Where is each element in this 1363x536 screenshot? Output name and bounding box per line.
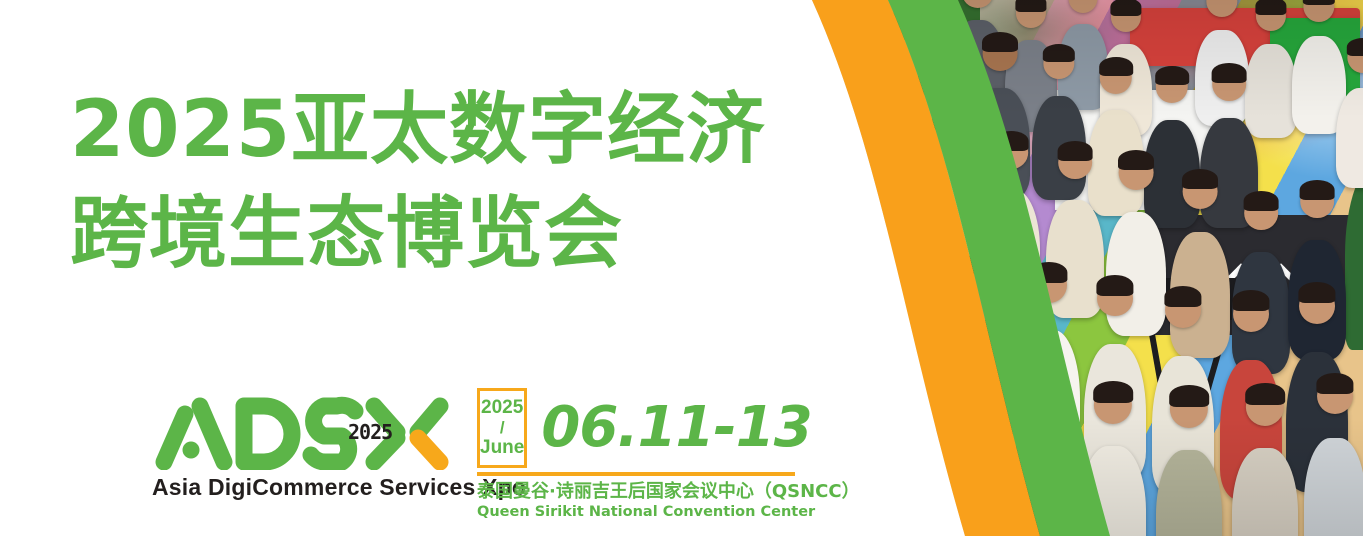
logo-letter-d	[244, 406, 292, 462]
exhibition-photo	[800, 0, 1363, 536]
date-year: 2025	[481, 398, 523, 418]
logo-letter-a-right-stroke	[200, 406, 224, 462]
title-line-1: 2025亚太数字经济	[70, 78, 830, 182]
date-row: 2025 / June 06.11-13	[477, 386, 807, 470]
adsx-wordmark: 2025	[152, 392, 452, 470]
title-line-2: 跨境生态博览会	[70, 182, 830, 286]
logo-letter-a-dot	[183, 442, 200, 459]
adsx-logo: 2025 Asia DigiCommerce Services Xpo	[152, 392, 462, 501]
date-venue-block: 2025 / June 06.11-13 泰国曼谷·诗丽吉王后国家会议中心（QS…	[477, 386, 807, 521]
logo-letter-x-stroke-br	[418, 438, 440, 462]
event-banner: 2025亚太数字经济 跨境生态博览会	[0, 0, 1363, 536]
logo-letter-x-stroke-tr	[418, 406, 440, 432]
logo-letter-a-left-stroke	[164, 414, 185, 462]
date-divider	[477, 472, 795, 476]
date-separator: /	[500, 419, 505, 437]
venue-name-en: Queen Sirikit National Convention Center	[477, 503, 807, 521]
page-title: 2025亚太数字经济 跨境生态博览会	[70, 78, 830, 286]
venue-name-cn: 泰国曼谷·诗丽吉王后国家会议中心（QSNCC）	[477, 481, 807, 503]
date-month: June	[480, 438, 524, 458]
photo-vignette	[800, 0, 1363, 536]
logo-tagline: Asia DigiCommerce Services Xpo	[152, 474, 462, 501]
logo-year-badge: 2025	[348, 420, 392, 444]
date-range: 06.11-13	[541, 400, 811, 456]
adsx-logo-icon	[152, 392, 452, 470]
date-year-month-box: 2025 / June	[477, 388, 527, 468]
